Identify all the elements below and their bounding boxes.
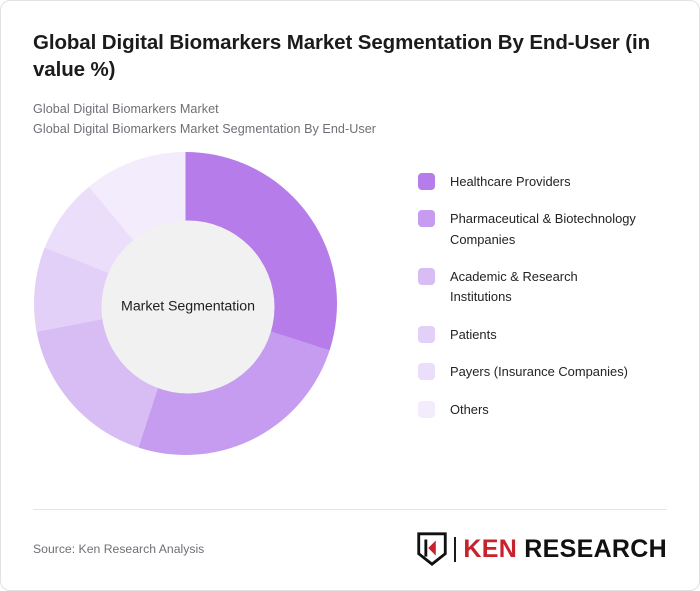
legend-swatch-icon [418,268,435,285]
chart-legend: Healthcare ProvidersPharmaceutical & Bio… [343,152,667,420]
brand-name-accent: KEN [463,535,517,563]
legend-item-label: Payers (Insurance Companies) [450,362,628,382]
legend-item-label: Pharmaceutical & Biotechnology Companies [450,209,640,250]
brand-logo: KEN RESEARCH [415,531,667,567]
brand-separator [454,537,456,562]
page-title: Global Digital Biomarkers Market Segment… [33,29,653,83]
brand-name-rest: RESEARCH [517,535,667,563]
subtitle-segmentation: Global Digital Biomarkers Market Segment… [33,120,667,140]
legend-swatch-icon [418,210,435,227]
legend-item[interactable]: Patients [418,325,667,345]
brand-name: KEN RESEARCH [463,537,667,562]
card-header: Global Digital Biomarkers Market Segment… [1,1,699,140]
source-note: Source: Ken Research Analysis [33,542,204,556]
legend-item-label: Healthcare Providers [450,172,571,192]
donut-chart: Market Segmentation [33,152,343,462]
legend-item[interactable]: Academic & Research Institutions [418,267,667,308]
legend-item[interactable]: Pharmaceutical & Biotechnology Companies [418,209,667,250]
subtitle-group: Global Digital Biomarkers Market Global … [33,100,667,140]
legend-item[interactable]: Healthcare Providers [418,172,667,192]
legend-item[interactable]: Payers (Insurance Companies) [418,362,667,382]
donut-center: Market Segmentation [102,220,275,393]
legend-item[interactable]: Others [418,400,667,420]
legend-swatch-icon [418,173,435,190]
legend-item-label: Patients [450,325,497,345]
legend-item-label: Academic & Research Institutions [450,267,640,308]
legend-swatch-icon [418,363,435,380]
legend-swatch-icon [418,326,435,343]
card-footer: Source: Ken Research Analysis KEN RESEAR… [33,529,667,569]
footer-divider [33,509,667,510]
subtitle-market: Global Digital Biomarkers Market [33,100,667,120]
legend-swatch-icon [418,401,435,418]
legend-item-label: Others [450,400,489,420]
chart-body: Market Segmentation Healthcare Providers… [1,140,699,462]
chart-card: Global Digital Biomarkers Market Segment… [0,0,700,591]
donut-center-label: Market Segmentation [121,299,255,315]
ken-research-shield-icon [415,531,449,567]
